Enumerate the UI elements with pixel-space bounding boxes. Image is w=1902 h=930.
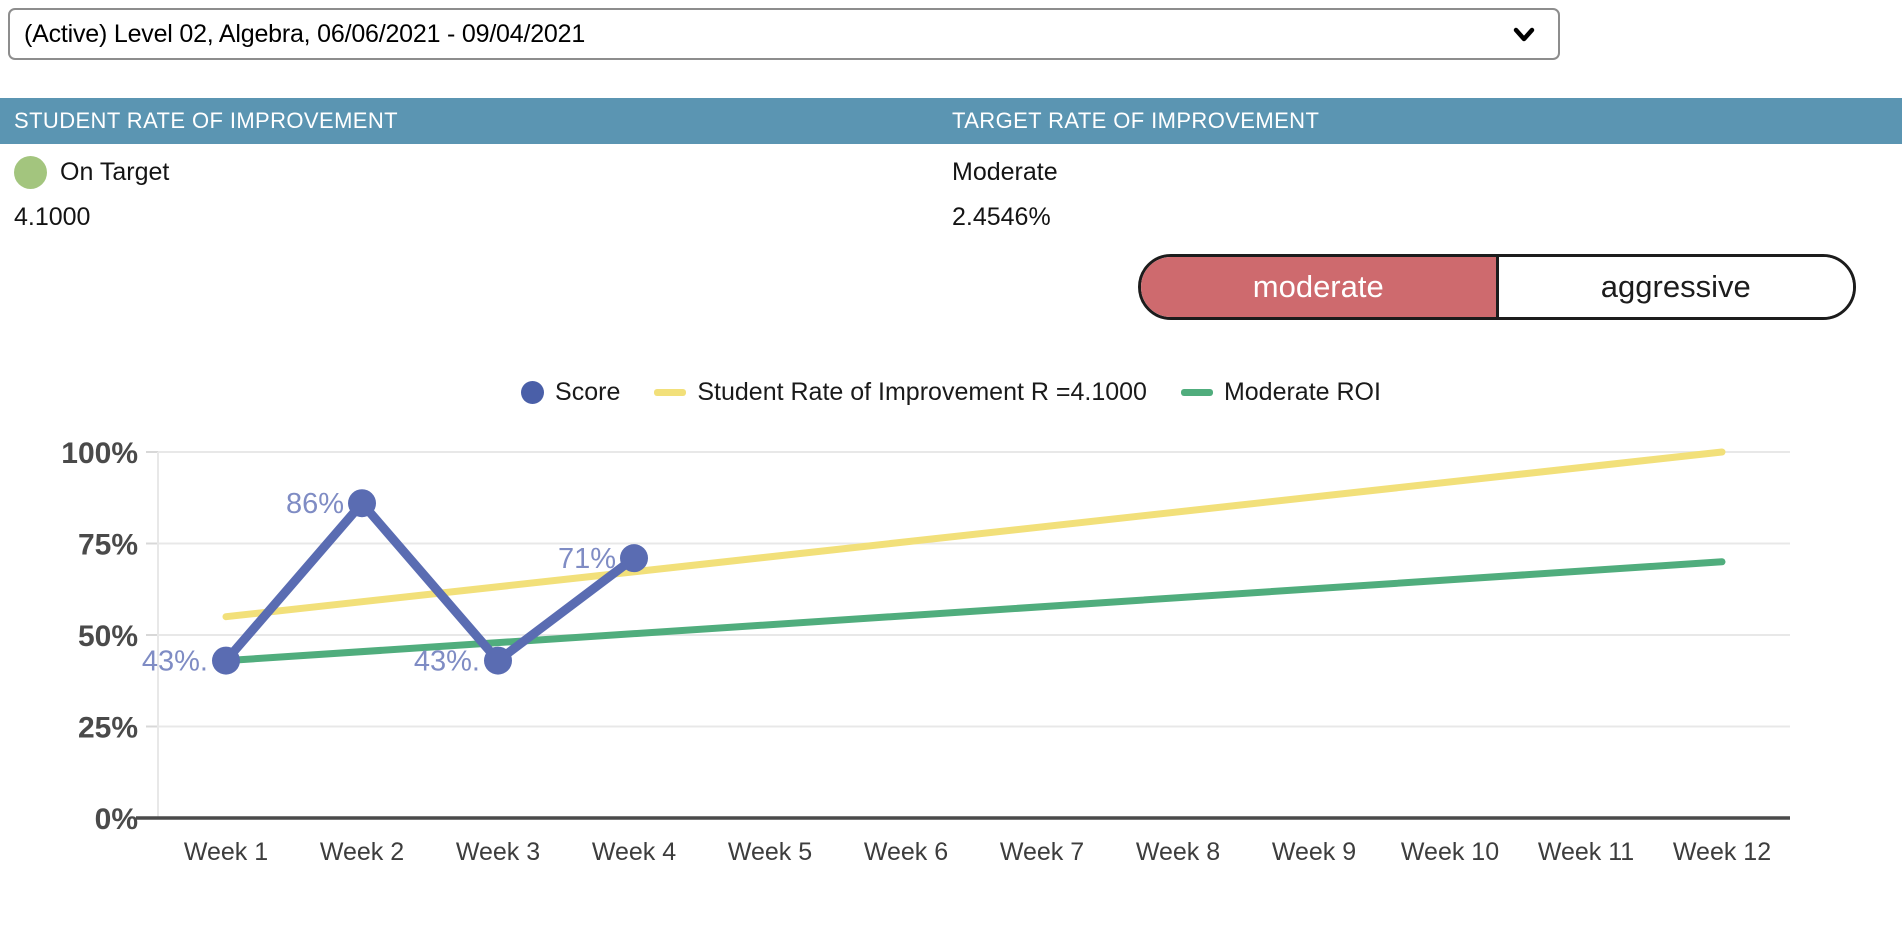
x-tick-label: Week 2 [320, 838, 404, 866]
toggle-option-moderate[interactable]: moderate [1141, 257, 1496, 317]
score-point-label: 71% [558, 543, 616, 575]
x-tick-label: Week 1 [184, 838, 268, 866]
score-point-label: 43%. [142, 646, 208, 678]
y-tick-label: 100% [61, 437, 138, 470]
score-point-label: 43%. [414, 646, 480, 678]
legend-label-moderate-roi: Moderate ROI [1224, 378, 1381, 407]
chart-canvas: 0%25%50%75%100%Week 1Week 2Week 3Week 4W… [0, 420, 1902, 900]
target-status-row: Moderate [952, 155, 1058, 189]
x-tick-label: Week 5 [728, 838, 812, 866]
legend-label-score: Score [555, 378, 620, 407]
student-status-row: On Target [14, 155, 169, 189]
header-student-roi: STUDENT RATE OF IMPROVEMENT [14, 108, 398, 134]
legend-label-student-roi: Student Rate of Improvement R =4.1000 [697, 378, 1147, 407]
student-roi-line-icon [654, 389, 686, 396]
legend-item-score[interactable]: Score [521, 378, 620, 407]
legend-item-student-roi[interactable]: Student Rate of Improvement R =4.1000 [654, 378, 1147, 407]
status-dot-icon [14, 156, 47, 189]
x-tick-label: Week 9 [1272, 838, 1356, 866]
y-tick-label: 25% [78, 712, 138, 745]
score-point-marker[interactable] [212, 647, 240, 675]
score-point-marker[interactable] [348, 489, 376, 517]
metrics-header-bar: STUDENT RATE OF IMPROVEMENT TARGET RATE … [0, 98, 1902, 144]
legend-item-moderate-roi[interactable]: Moderate ROI [1181, 378, 1381, 407]
y-tick-label: 50% [78, 620, 138, 653]
moderate-roi-line-icon [1181, 389, 1213, 396]
x-tick-label: Week 3 [456, 838, 540, 866]
x-tick-label: Week 12 [1673, 838, 1771, 866]
x-tick-label: Week 4 [592, 838, 676, 866]
period-select-wrapper[interactable]: (Active) Level 02, Algebra, 06/06/2021 -… [8, 8, 1560, 60]
target-roi-value: 2.4546% [952, 203, 1058, 232]
x-tick-label: Week 7 [1000, 838, 1084, 866]
target-roi-stats: Moderate 2.4546% [952, 155, 1058, 232]
progress-chart: 0%25%50%75%100%Week 1Week 2Week 3Week 4W… [0, 420, 1902, 900]
chart-legend: Score Student Rate of Improvement R =4.1… [0, 378, 1902, 407]
x-tick-label: Week 11 [1538, 838, 1634, 866]
score-dot-icon [521, 381, 544, 404]
toggle-option-aggressive[interactable]: aggressive [1496, 257, 1854, 317]
score-point-marker[interactable] [484, 647, 512, 675]
roi-mode-toggle[interactable]: moderate aggressive [1138, 254, 1856, 320]
student-roi-stats: On Target 4.1000 [14, 155, 169, 232]
x-tick-label: Week 10 [1401, 838, 1499, 866]
header-target-roi: TARGET RATE OF IMPROVEMENT [952, 108, 1319, 134]
period-select[interactable]: (Active) Level 02, Algebra, 06/06/2021 -… [8, 8, 1560, 60]
student-status-label: On Target [60, 158, 169, 187]
score-point-label: 86% [286, 488, 344, 520]
y-tick-label: 0% [95, 803, 138, 836]
x-tick-label: Week 6 [864, 838, 948, 866]
target-status-label: Moderate [952, 158, 1058, 187]
chevron-down-icon[interactable] [1510, 20, 1538, 48]
trend-line [226, 452, 1722, 617]
student-roi-value: 4.1000 [14, 203, 169, 232]
period-select-value: (Active) Level 02, Algebra, 06/06/2021 -… [24, 20, 1510, 49]
y-tick-label: 75% [78, 529, 138, 562]
score-point-marker[interactable] [620, 544, 648, 572]
x-tick-label: Week 8 [1136, 838, 1220, 866]
